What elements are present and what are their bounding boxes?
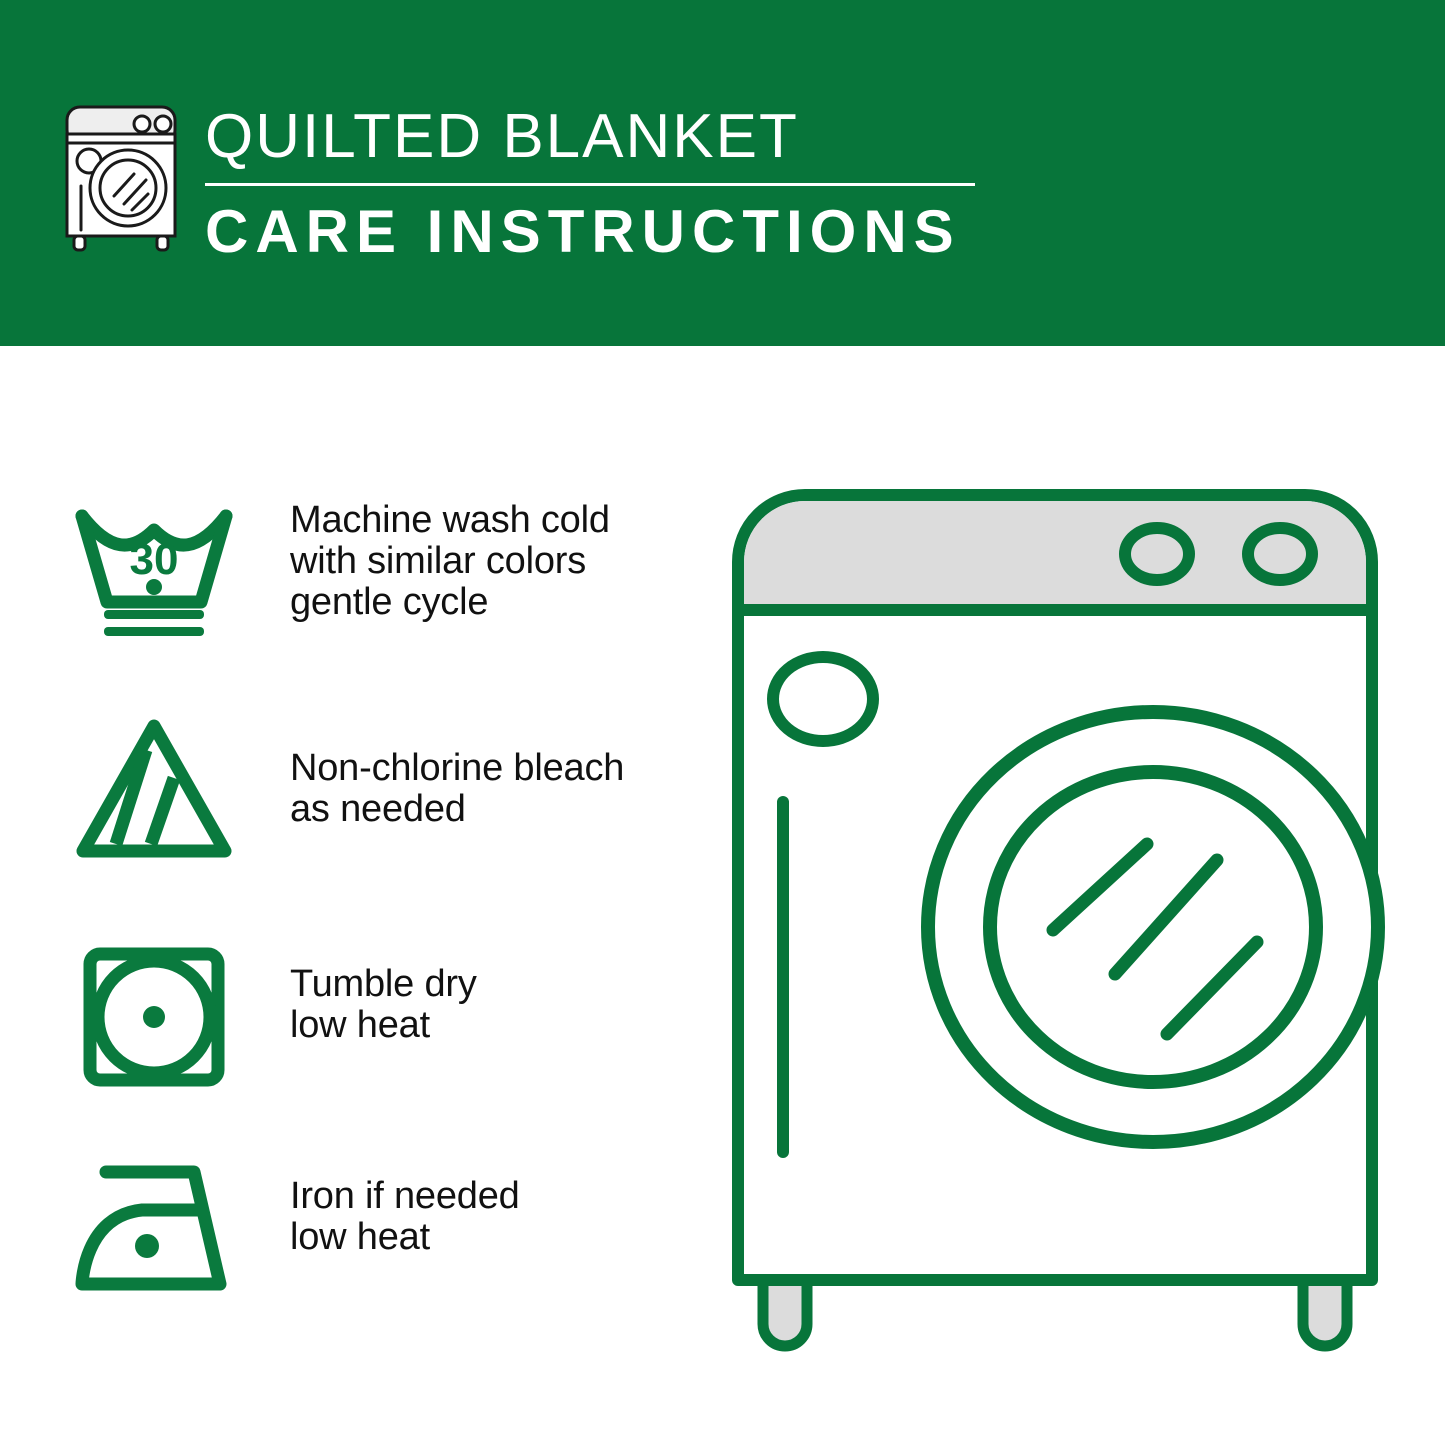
header-title-group: QUILTED BLANKET CARE INSTRUCTIONS (205, 98, 995, 268)
care-text-line: gentle cycle (290, 582, 610, 623)
care-row-bleach: Non-chlorine bleach as needed (70, 716, 690, 871)
care-text-bleach: Non-chlorine bleach as needed (290, 716, 624, 830)
care-row-tumble-dry: Tumble dry low heat (70, 942, 690, 1097)
header-banner: QUILTED BLANKET CARE INSTRUCTIONS (0, 0, 1445, 346)
care-text-machine-wash: Machine wash cold with similar colors ge… (290, 494, 610, 623)
care-row-iron: Iron if needed low heat (70, 1154, 690, 1309)
care-text-line: low heat (290, 1005, 477, 1046)
care-text-line: Tumble dry (290, 964, 477, 1005)
page-title: QUILTED BLANKET (205, 98, 995, 176)
care-text-line: as needed (290, 789, 624, 830)
iron-low-heat-icon (70, 1154, 238, 1309)
non-chlorine-bleach-triangle-icon (70, 716, 238, 871)
knob-right (1248, 528, 1312, 580)
front-load-washing-machine-illustration (705, 462, 1405, 1362)
wash-tub-30-gentle-icon: 30 (70, 494, 238, 649)
care-text-iron: Iron if needed low heat (290, 1154, 520, 1258)
tumble-dry-low-icon (70, 942, 238, 1097)
care-text-line: Machine wash cold (290, 500, 610, 541)
care-text-tumble-dry: Tumble dry low heat (290, 942, 477, 1046)
page-subtitle: CARE INSTRUCTIONS (205, 196, 995, 268)
dispenser-oval (773, 657, 873, 741)
care-instruction-list: 30 Machine wash cold with similar colors… (0, 346, 700, 1445)
care-text-line: Non-chlorine bleach (290, 748, 624, 789)
care-text-line: low heat (290, 1217, 520, 1258)
wash-temperature-label: 30 (130, 535, 179, 584)
knob-left (1125, 528, 1189, 580)
care-instructions-page: QUILTED BLANKET CARE INSTRUCTIONS 30 Mac… (0, 0, 1445, 1445)
care-text-line: Iron if needed (290, 1176, 520, 1217)
care-row-machine-wash: 30 Machine wash cold with similar colors… (70, 494, 690, 649)
care-text-line: with similar colors (290, 541, 610, 582)
title-divider (205, 183, 975, 186)
washing-machine-icon (62, 104, 186, 254)
